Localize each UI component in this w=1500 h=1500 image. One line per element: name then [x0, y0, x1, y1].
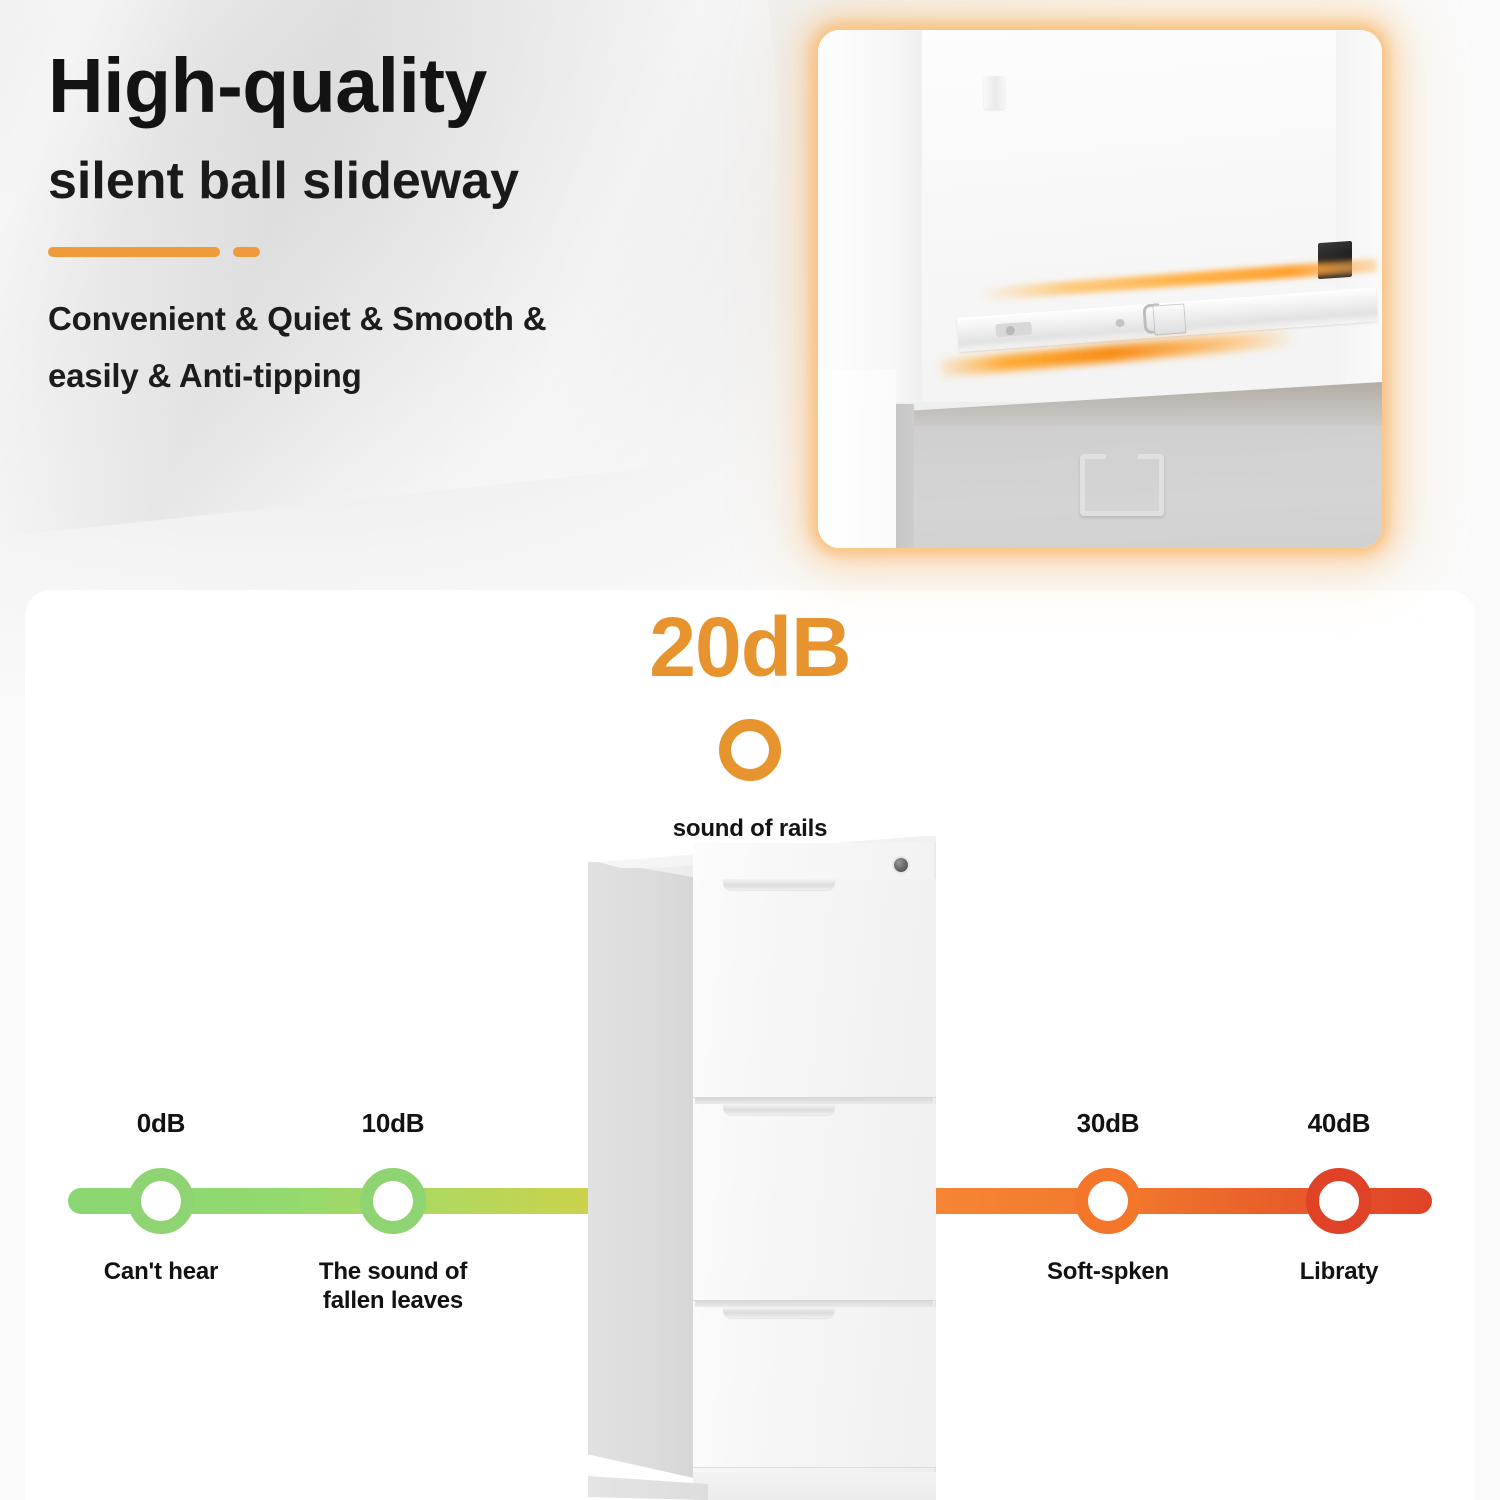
cabinet-side-panel: [588, 862, 698, 1479]
cabinet-drawer-gap-1: [695, 1097, 933, 1104]
infographic-poster: High-quality silent ball slideway Conven…: [0, 0, 1500, 1500]
cabinet-drawer-gap-2: [695, 1300, 933, 1307]
scale-tick-value-2: 30dB: [1008, 1108, 1208, 1139]
cabinet-drawer-pull-1: [723, 879, 835, 890]
scale-tick-caption-3: Libraty: [1199, 1258, 1479, 1287]
cabinet-front-face: [693, 843, 936, 1495]
scale-tick-value-0: 0dB: [61, 1108, 261, 1139]
product-photo: [818, 30, 1382, 548]
callout-ring-icon: [719, 719, 781, 781]
cabinet-lock-icon: [894, 858, 908, 872]
cabinet-drawer-2: [693, 1104, 936, 1301]
photo-drawer-handle-icon: [1080, 454, 1164, 516]
scale-tick-value-3: 40dB: [1239, 1108, 1439, 1139]
noise-callout: 20dB sound of rails: [0, 605, 1500, 843]
scale-tick-marker-0: [128, 1168, 194, 1234]
cabinet-drawer-pull-2: [723, 1104, 835, 1115]
cabinet-base: [693, 1472, 936, 1500]
scale-tick-value-1: 10dB: [293, 1108, 493, 1139]
rail-tab: [1152, 303, 1186, 335]
divider-long-segment: [48, 247, 220, 257]
headline-description-line2: easily & Anti-tipping: [48, 357, 362, 394]
photo-left-lower-panel: [818, 402, 888, 548]
cabinet-drawer-pull-3: [723, 1307, 835, 1318]
headline-block: High-quality silent ball slideway Conven…: [48, 48, 768, 405]
file-cabinet-illustration: [588, 836, 936, 1500]
scale-tick-marker-1: [360, 1168, 426, 1234]
divider-short-segment: [233, 247, 260, 257]
rail-screw-icon: [1115, 319, 1125, 328]
callout-value: 20dB: [0, 605, 1500, 689]
cabinet-left-panel: [818, 30, 922, 402]
cabinet-right-column: [1336, 30, 1382, 402]
page-subtitle: silent ball slideway: [48, 155, 768, 207]
scale-tick-marker-3: [1306, 1168, 1372, 1234]
headline-description-line1: Convenient & Quiet & Smooth &: [48, 300, 546, 337]
divider: [48, 247, 768, 257]
product-photo-card: [818, 30, 1382, 548]
page-title: High-quality: [48, 48, 768, 125]
scale-tick-marker-2: [1075, 1168, 1141, 1234]
cabinet-foot: [588, 1476, 708, 1500]
scale-tick-caption-1: The sound of fallen leaves: [253, 1258, 533, 1316]
headline-description: Convenient & Quiet & Smooth & easily & A…: [48, 291, 768, 405]
cabinet-drawer-1: [693, 879, 936, 1098]
cabinet-drawer-3: [693, 1307, 936, 1468]
cabinet-clip-icon: [984, 76, 1005, 109]
